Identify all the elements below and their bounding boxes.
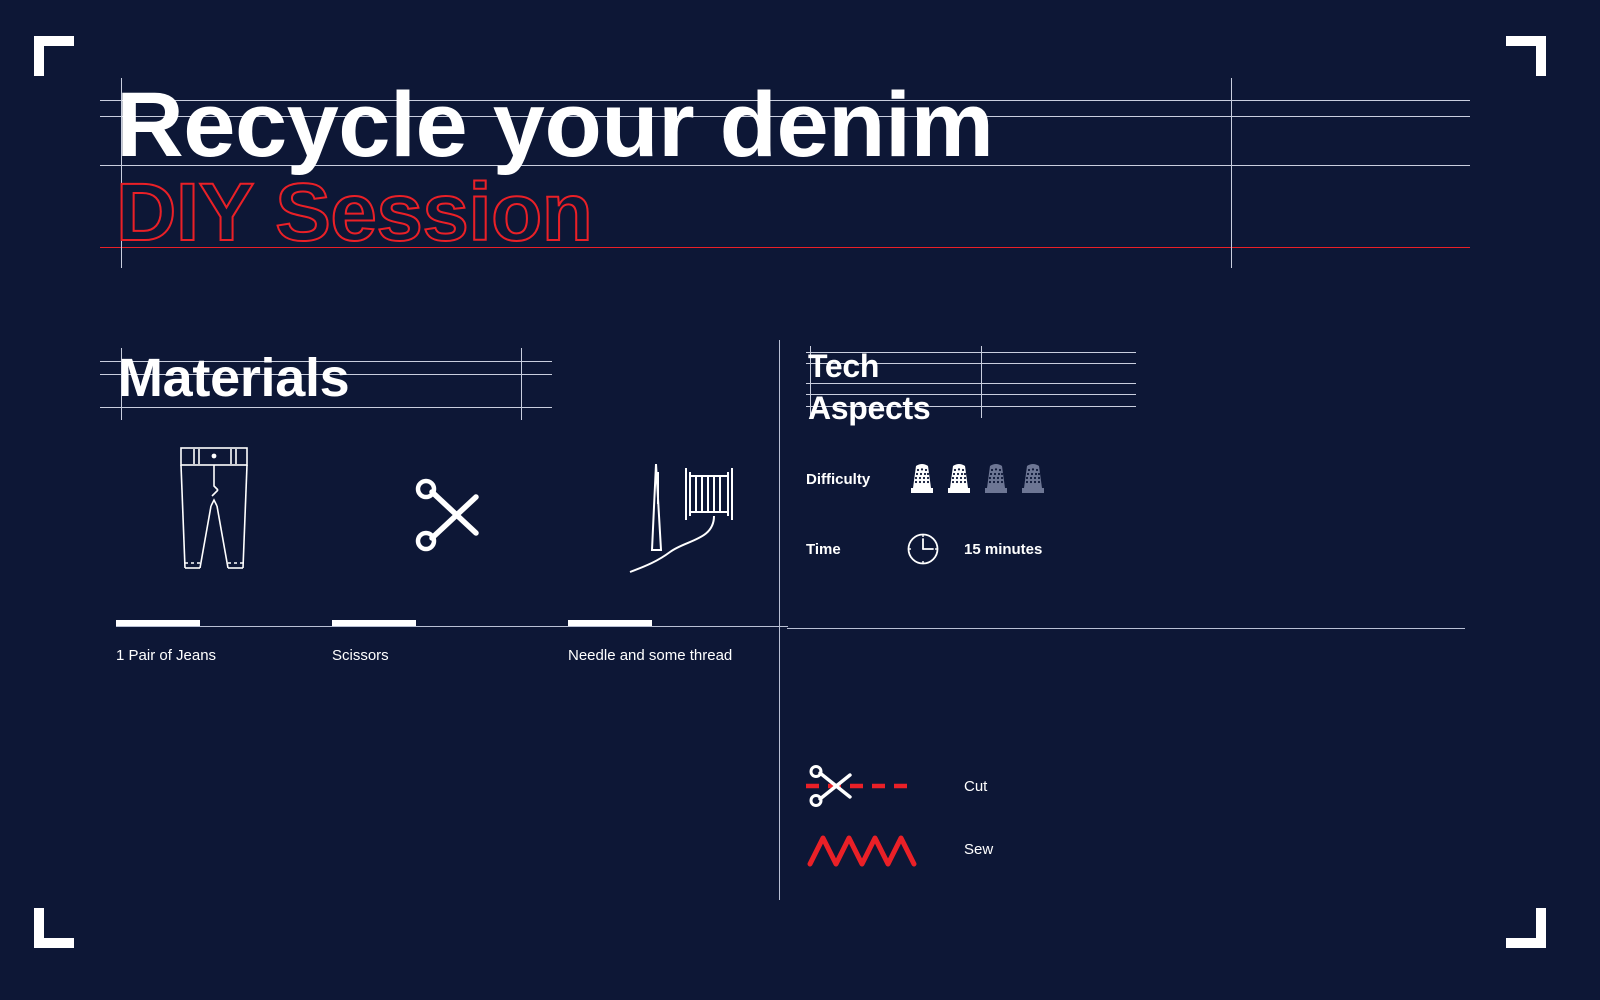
materials-baseline	[116, 626, 788, 627]
material-label-scissors: Scissors	[332, 647, 389, 664]
thimble-icon	[945, 462, 973, 496]
materials-guide-vertical-right	[521, 348, 522, 420]
legend-label-sew: Sew	[964, 841, 993, 858]
thimble-icon	[908, 462, 936, 496]
material-label-jeans: 1 Pair of Jeans	[116, 647, 216, 664]
legend-item-cut[interactable]: Cut	[806, 765, 987, 807]
time-label: Time	[806, 541, 906, 558]
difficulty-label: Difficulty	[806, 471, 906, 488]
needle-thread-icon	[568, 440, 793, 590]
time-row: Time 15 minutes	[806, 532, 1042, 566]
materials-heading: Materials	[118, 351, 349, 405]
difficulty-rating[interactable]	[908, 462, 1047, 496]
hero-guide-vertical-right	[1231, 78, 1232, 268]
scissors-dashed-icon	[806, 765, 916, 807]
tech-aspects-heading: Tech Aspects	[808, 350, 930, 424]
material-item-needle-thread[interactable]: Needle and some thread	[568, 440, 793, 680]
clock-icon	[906, 532, 940, 566]
zigzag-stitch-icon	[806, 828, 916, 870]
page-title: Recycle your denim	[116, 79, 993, 171]
poster-canvas: Recycle your denim DIY Session Materials	[0, 0, 1600, 1000]
material-label-needle-thread: Needle and some thread	[568, 647, 732, 664]
material-item-scissors[interactable]: Scissors	[332, 440, 557, 680]
difficulty-row: Difficulty	[806, 462, 1047, 496]
legend-item-sew[interactable]: Sew	[806, 828, 993, 870]
legend-label-cut: Cut	[964, 778, 987, 795]
tech-section-divider	[787, 628, 1465, 629]
jeans-icon	[116, 440, 341, 590]
materials-list: 1 Pair of Jeans Scissors	[116, 440, 796, 680]
tech-heading-line-1: Tech	[808, 350, 930, 382]
thimble-icon	[1019, 462, 1047, 496]
tech-guide-vertical-right	[981, 346, 982, 418]
column-divider	[779, 340, 780, 900]
scissors-icon	[332, 440, 557, 590]
corner-bracket-bottom-left	[34, 908, 74, 948]
corner-bracket-bottom-right	[1506, 908, 1546, 948]
thimble-icon	[982, 462, 1010, 496]
time-value: 15 minutes	[964, 541, 1042, 558]
material-item-jeans[interactable]: 1 Pair of Jeans	[116, 440, 341, 680]
hero-section: Recycle your denim DIY Session	[0, 0, 1600, 290]
page-subtitle: DIY Session	[116, 172, 592, 254]
tech-heading-line-2: Aspects	[808, 392, 930, 424]
